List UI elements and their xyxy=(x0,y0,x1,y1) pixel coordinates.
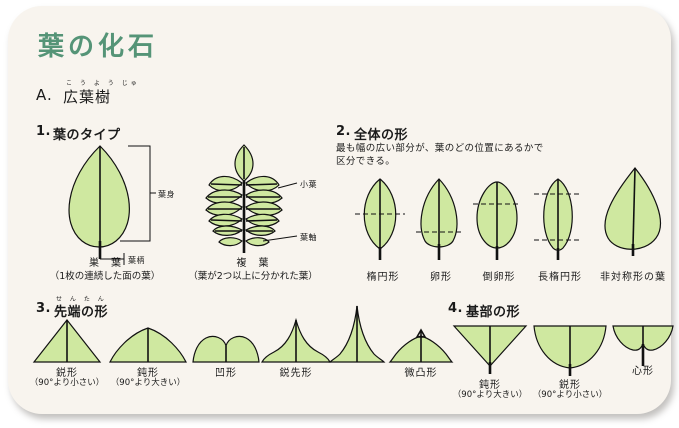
shape-label-ovate: 卵形 xyxy=(410,268,472,283)
section-2-description-line1: 最も幅の広い部分が、葉のどの位置にあるかで xyxy=(336,142,544,155)
shape-label-asymmetric: 非対称形の葉 xyxy=(586,268,679,283)
base-obtuse-figure xyxy=(450,322,530,374)
apex-emarginate-figure xyxy=(190,332,262,366)
section-4-number: 4. xyxy=(448,301,463,316)
apex-label-mucronate: 微凸形 xyxy=(384,364,458,379)
shape-ovate-figure xyxy=(413,176,471,256)
simple-leaf-figure xyxy=(38,141,168,256)
shape-label-obovate: 倒卵形 xyxy=(466,268,532,283)
apex-long-tapered-figure xyxy=(326,306,388,366)
apex-sub-obtuse: （90°より大きい） xyxy=(100,376,196,388)
apex-mucronate-figure xyxy=(386,328,456,366)
label-rachis: 葉軸 xyxy=(300,232,317,243)
section-1-number: 1. xyxy=(36,124,51,139)
compound-leaf-figure xyxy=(193,141,313,256)
apex-acute-figure xyxy=(28,318,106,366)
section-a-marker: A. xyxy=(36,86,53,104)
shape-ellipse-figure xyxy=(353,176,413,256)
simple-leaf-caption-sub: （1枚の連続した面の葉） xyxy=(20,268,190,282)
section-2-description-line2: 区分できる。 xyxy=(336,155,395,168)
shape-label-ellipse: 楕円形 xyxy=(348,268,418,283)
section-2-heading: 全体の形 xyxy=(354,124,408,143)
apex-label-acuminate: 鋭先形 xyxy=(256,364,336,379)
apex-obtuse-figure xyxy=(104,324,192,366)
page-title: 葉の化石 xyxy=(38,26,158,63)
shape-asymmetric-figure xyxy=(594,166,674,258)
apex-acuminate-figure xyxy=(258,318,334,366)
section-4-heading: 基部の形 xyxy=(466,301,520,320)
shape-obovate-figure xyxy=(471,176,529,256)
compound-leaf-caption: 複 葉 xyxy=(178,254,328,269)
compound-leaf-caption-sub: （葉が2つ以上に分かれた葉） xyxy=(168,268,338,282)
section-2-number: 2. xyxy=(336,124,351,139)
label-leaflet: 小葉 xyxy=(300,179,317,190)
base-sub-acute: （90°より小さい） xyxy=(524,388,616,400)
base-label-cordate: 心形 xyxy=(608,362,678,377)
shape-oblong-figure xyxy=(531,176,589,256)
poster-card: 葉の化石 A. こ う よ う じゅ 広葉樹 1. 葉のタイプ 葉身 葉柄 巣 … xyxy=(8,6,671,414)
label-leaf-blade: 葉身 xyxy=(158,189,175,200)
section-3-number: 3. xyxy=(36,301,51,316)
apex-label-emarginate: 凹形 xyxy=(190,364,262,379)
base-sub-obtuse: （90°より大きい） xyxy=(444,388,536,400)
section-a-heading: 広葉樹 xyxy=(63,86,111,107)
simple-leaf-caption: 巣 葉 xyxy=(28,254,183,269)
base-acute-figure xyxy=(530,322,610,374)
